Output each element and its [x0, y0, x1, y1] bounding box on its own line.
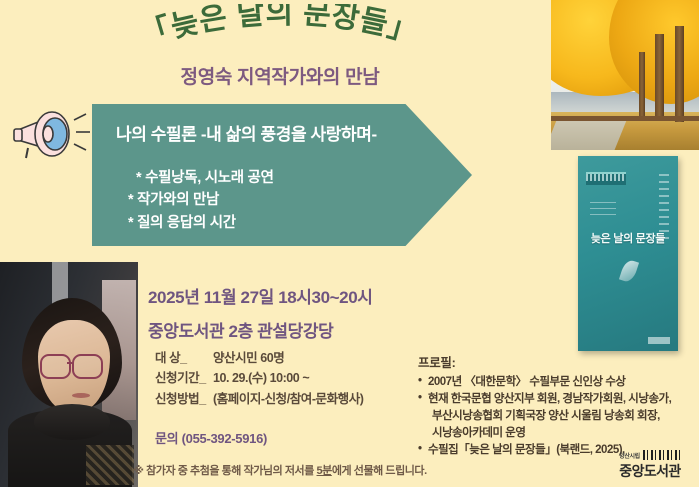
poster-title-area: 「늦은 날의 문장들」	[110, 4, 450, 60]
banner-item: * 질의 응답의 시간	[128, 212, 472, 234]
book-cover-image: 늦은 날의 문장들	[578, 156, 678, 351]
profile-item-line: 부산시낭송협회 기획국장 양산 시울림 낭송회 회장,	[428, 408, 690, 425]
barcode-icon	[643, 450, 681, 460]
profile-item-line: 시낭송아카데미 운영	[428, 425, 690, 442]
portrait-glasses-left	[40, 354, 71, 379]
detail-row: 신청기간_10. 29.(수) 10:00 ~	[155, 368, 430, 388]
book-decor-dots	[590, 202, 616, 220]
contact-phone: 문의 (055-392-5916)	[155, 428, 267, 447]
detail-label: 신청기간_	[155, 368, 213, 388]
profile-item-main: 2007년 〈대한문학〉 수필부문 신인상 수상	[428, 376, 625, 388]
logo-city-label: 양산시립	[619, 451, 639, 460]
portrait-lips	[72, 393, 90, 398]
profile-list: 2007년 〈대한문학〉 수필부문 신인상 수상 현재 한국문협 양산지부 회원…	[418, 374, 690, 459]
detail-row: 신청방법_(홈페이지-신청/참여-문화행사)	[155, 389, 430, 409]
book-publisher-mark	[648, 337, 670, 344]
detail-row: 대 상_양산시민 60명	[155, 348, 430, 368]
author-portrait-photo	[0, 262, 138, 487]
banner-item: * 작가와의 만남	[128, 189, 472, 211]
banner-item-list: * 수필낭독, 시노래 공연 * 작가와의 만남 * 질의 응답의 시간	[116, 167, 472, 234]
photo-tree-trunk	[675, 26, 684, 122]
event-details: 대 상_양산시민 60명 신청기간_10. 29.(수) 10:00 ~ 신청방…	[155, 348, 430, 409]
author-profile: 프로필: 2007년 〈대한문학〉 수필부문 신인상 수상 현재 한국문협 양산…	[418, 352, 690, 459]
program-banner: 나의 수필론 -내 삶의 풍경을 사랑하며- * 수필낭독, 시노래 공연 * …	[92, 104, 472, 246]
logo-top-row: 양산시립	[609, 449, 691, 460]
event-venue: 중앙도서관 2층 관설당강당	[148, 317, 428, 342]
profile-title: 프로필:	[418, 352, 690, 371]
profile-item-main: 현재 한국문협 양산지부 회원, 경남작가회원, 시낭송가,	[428, 393, 671, 405]
portrait-glasses-bridge	[67, 362, 72, 364]
footer-note-prefix: ※ 참가자 중 추첨을 통해 작가님의 저서를	[133, 465, 316, 477]
banner-item: * 수필낭독, 시노래 공연	[128, 167, 472, 189]
photo-tree-trunk	[639, 52, 645, 120]
photo-fence	[551, 116, 699, 121]
event-poster: 「늦은 날의 문장들」 정영숙 지역작가와의 만남 나의 수필론 -내 삶의 풍…	[0, 0, 699, 487]
page-title: 「늦은 날의 문장들」	[137, 4, 422, 53]
library-logo: 양산시립 중앙도서관	[609, 449, 691, 481]
megaphone-icon	[8, 98, 94, 166]
photo-path	[551, 118, 627, 150]
profile-item: 현재 한국문협 양산지부 회원, 경남작가회원, 시낭송가, 부산시낭송협회 기…	[418, 391, 690, 442]
detail-value: 양산시민 60명	[213, 351, 284, 365]
autumn-ginkgo-photo	[551, 0, 699, 150]
poster-subtitle: 정영숙 지역작가와의 만남	[110, 62, 450, 89]
detail-label: 신청방법_	[155, 389, 213, 409]
footer-note-suffix: 에게 선물해 드립니다.	[332, 465, 427, 477]
event-info: 2025년 11월 27일 18시30~20시 중앙도서관 2층 관설당강당	[148, 283, 428, 342]
event-datetime: 2025년 11월 27일 18시30~20시	[148, 283, 428, 308]
feather-icon	[619, 258, 639, 283]
book-band-stripes	[586, 174, 626, 181]
detail-value: (홈페이지-신청/참여-문화행사)	[213, 392, 363, 406]
banner-heading: 나의 수필론 -내 삶의 풍경을 사랑하며-	[116, 120, 472, 145]
detail-value: 10. 29.(수) 10:00 ~	[213, 371, 309, 385]
title-arc-svg: 「늦은 날의 문장들」	[110, 4, 450, 60]
profile-item: 2007년 〈대한문학〉 수필부문 신인상 수상	[418, 374, 690, 391]
photo-tree-trunk	[655, 34, 664, 120]
detail-label: 대 상_	[155, 348, 213, 368]
logo-library-name: 중앙도서관	[609, 461, 691, 481]
portrait-scarf	[34, 404, 110, 440]
footer-note-underlined: 5분	[317, 465, 332, 477]
profile-item-main: 수필집「늦은 날의 문장들」(북랜드, 2025).	[428, 444, 625, 456]
footer-note: ※ 참가자 중 추첨을 통해 작가님의 저서를 5분에게 선물해 드립니다.	[0, 462, 560, 478]
book-cover-title: 늦은 날의 문장들	[578, 230, 678, 246]
portrait-glasses-right	[72, 354, 103, 379]
